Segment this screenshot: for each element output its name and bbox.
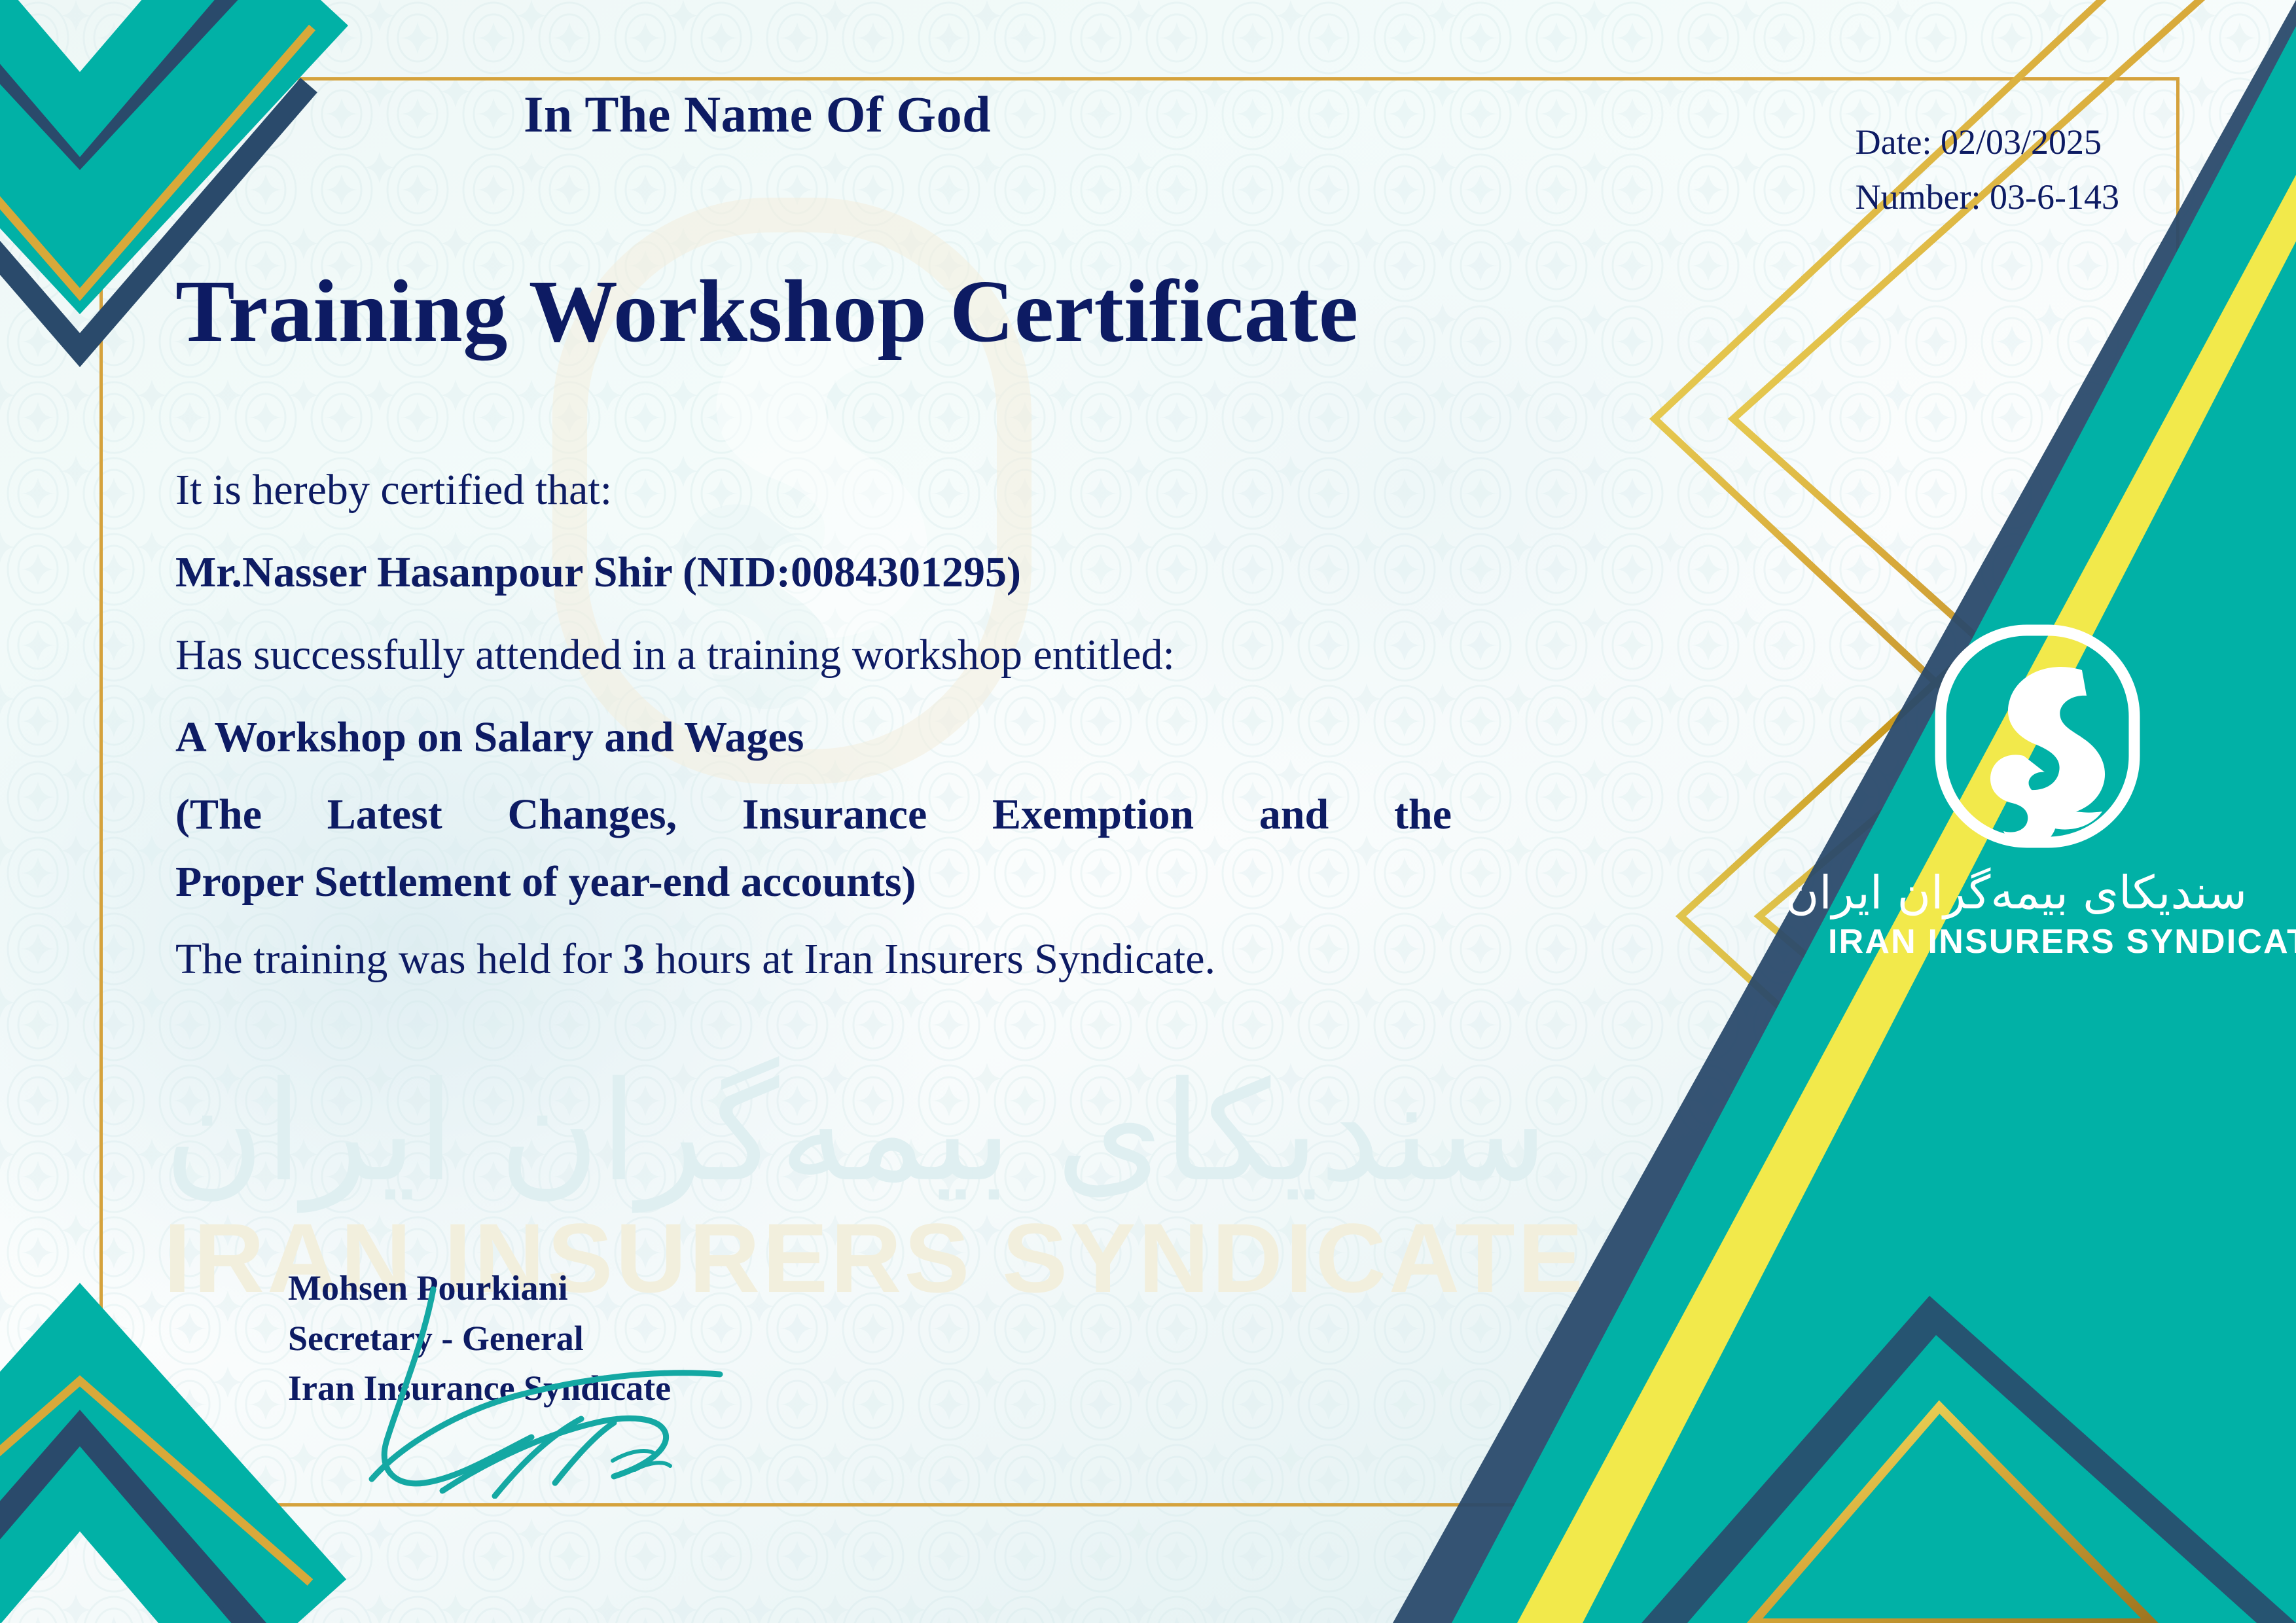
attended-line: Has successfully attended in a training … [175,630,1452,681]
certificate-meta: Date: 02/03/2025 Number: 03-6-143 [1856,115,2119,224]
certificate-body: It is hereby certified that: Mr.Nasser H… [175,465,1452,1016]
syndicate-logo: سندیکای بیمه‌گران ایران IRAN INSURERS SY… [1828,622,2247,961]
syndicate-logo-icon [1929,622,2145,851]
basmala-heading: In The Name Of God [524,85,991,144]
logo-persian-name: سندیکای بیمه‌گران ایران [1828,868,2247,918]
certificate-number: Number: 03-6-143 [1856,170,2119,225]
certificate-page: سندیکای بیمه‌گران ایران IRAN INSURERS SY… [0,0,2296,1623]
signatory-name: Mohsen Pourkiani [288,1263,671,1313]
duration-prefix: The training was held for [175,935,623,983]
workshop-subtitle-line-2: Proper Settlement of year-end accounts) [175,857,1452,908]
issue-date: Date: 02/03/2025 [1856,115,2119,170]
page-title: Training Workshop Certificate [175,260,1359,363]
signatory-organization: Iran Insurance Syndicate [288,1363,671,1414]
duration-suffix: hours at Iran Insurers Syndicate. [645,935,1215,983]
recipient-name: Mr.Nasser Hasanpour Shir (NID:0084301295… [175,547,1452,598]
duration-hours: 3 [623,935,645,983]
workshop-title: A Workshop on Salary and Wages [175,712,1452,763]
logo-english-name: IRAN INSURERS SYNDICATE [1828,922,2247,961]
workshop-subtitle-line-1: (The Latest Changes, Insurance Exemption… [175,789,1452,840]
signature-block: Mohsen Pourkiani Secretary - General Ira… [288,1263,671,1414]
certify-line: It is hereby certified that: [175,465,1452,516]
signatory-role: Secretary - General [288,1313,671,1364]
duration-line: The training was held for 3 hours at Ira… [175,934,1452,985]
